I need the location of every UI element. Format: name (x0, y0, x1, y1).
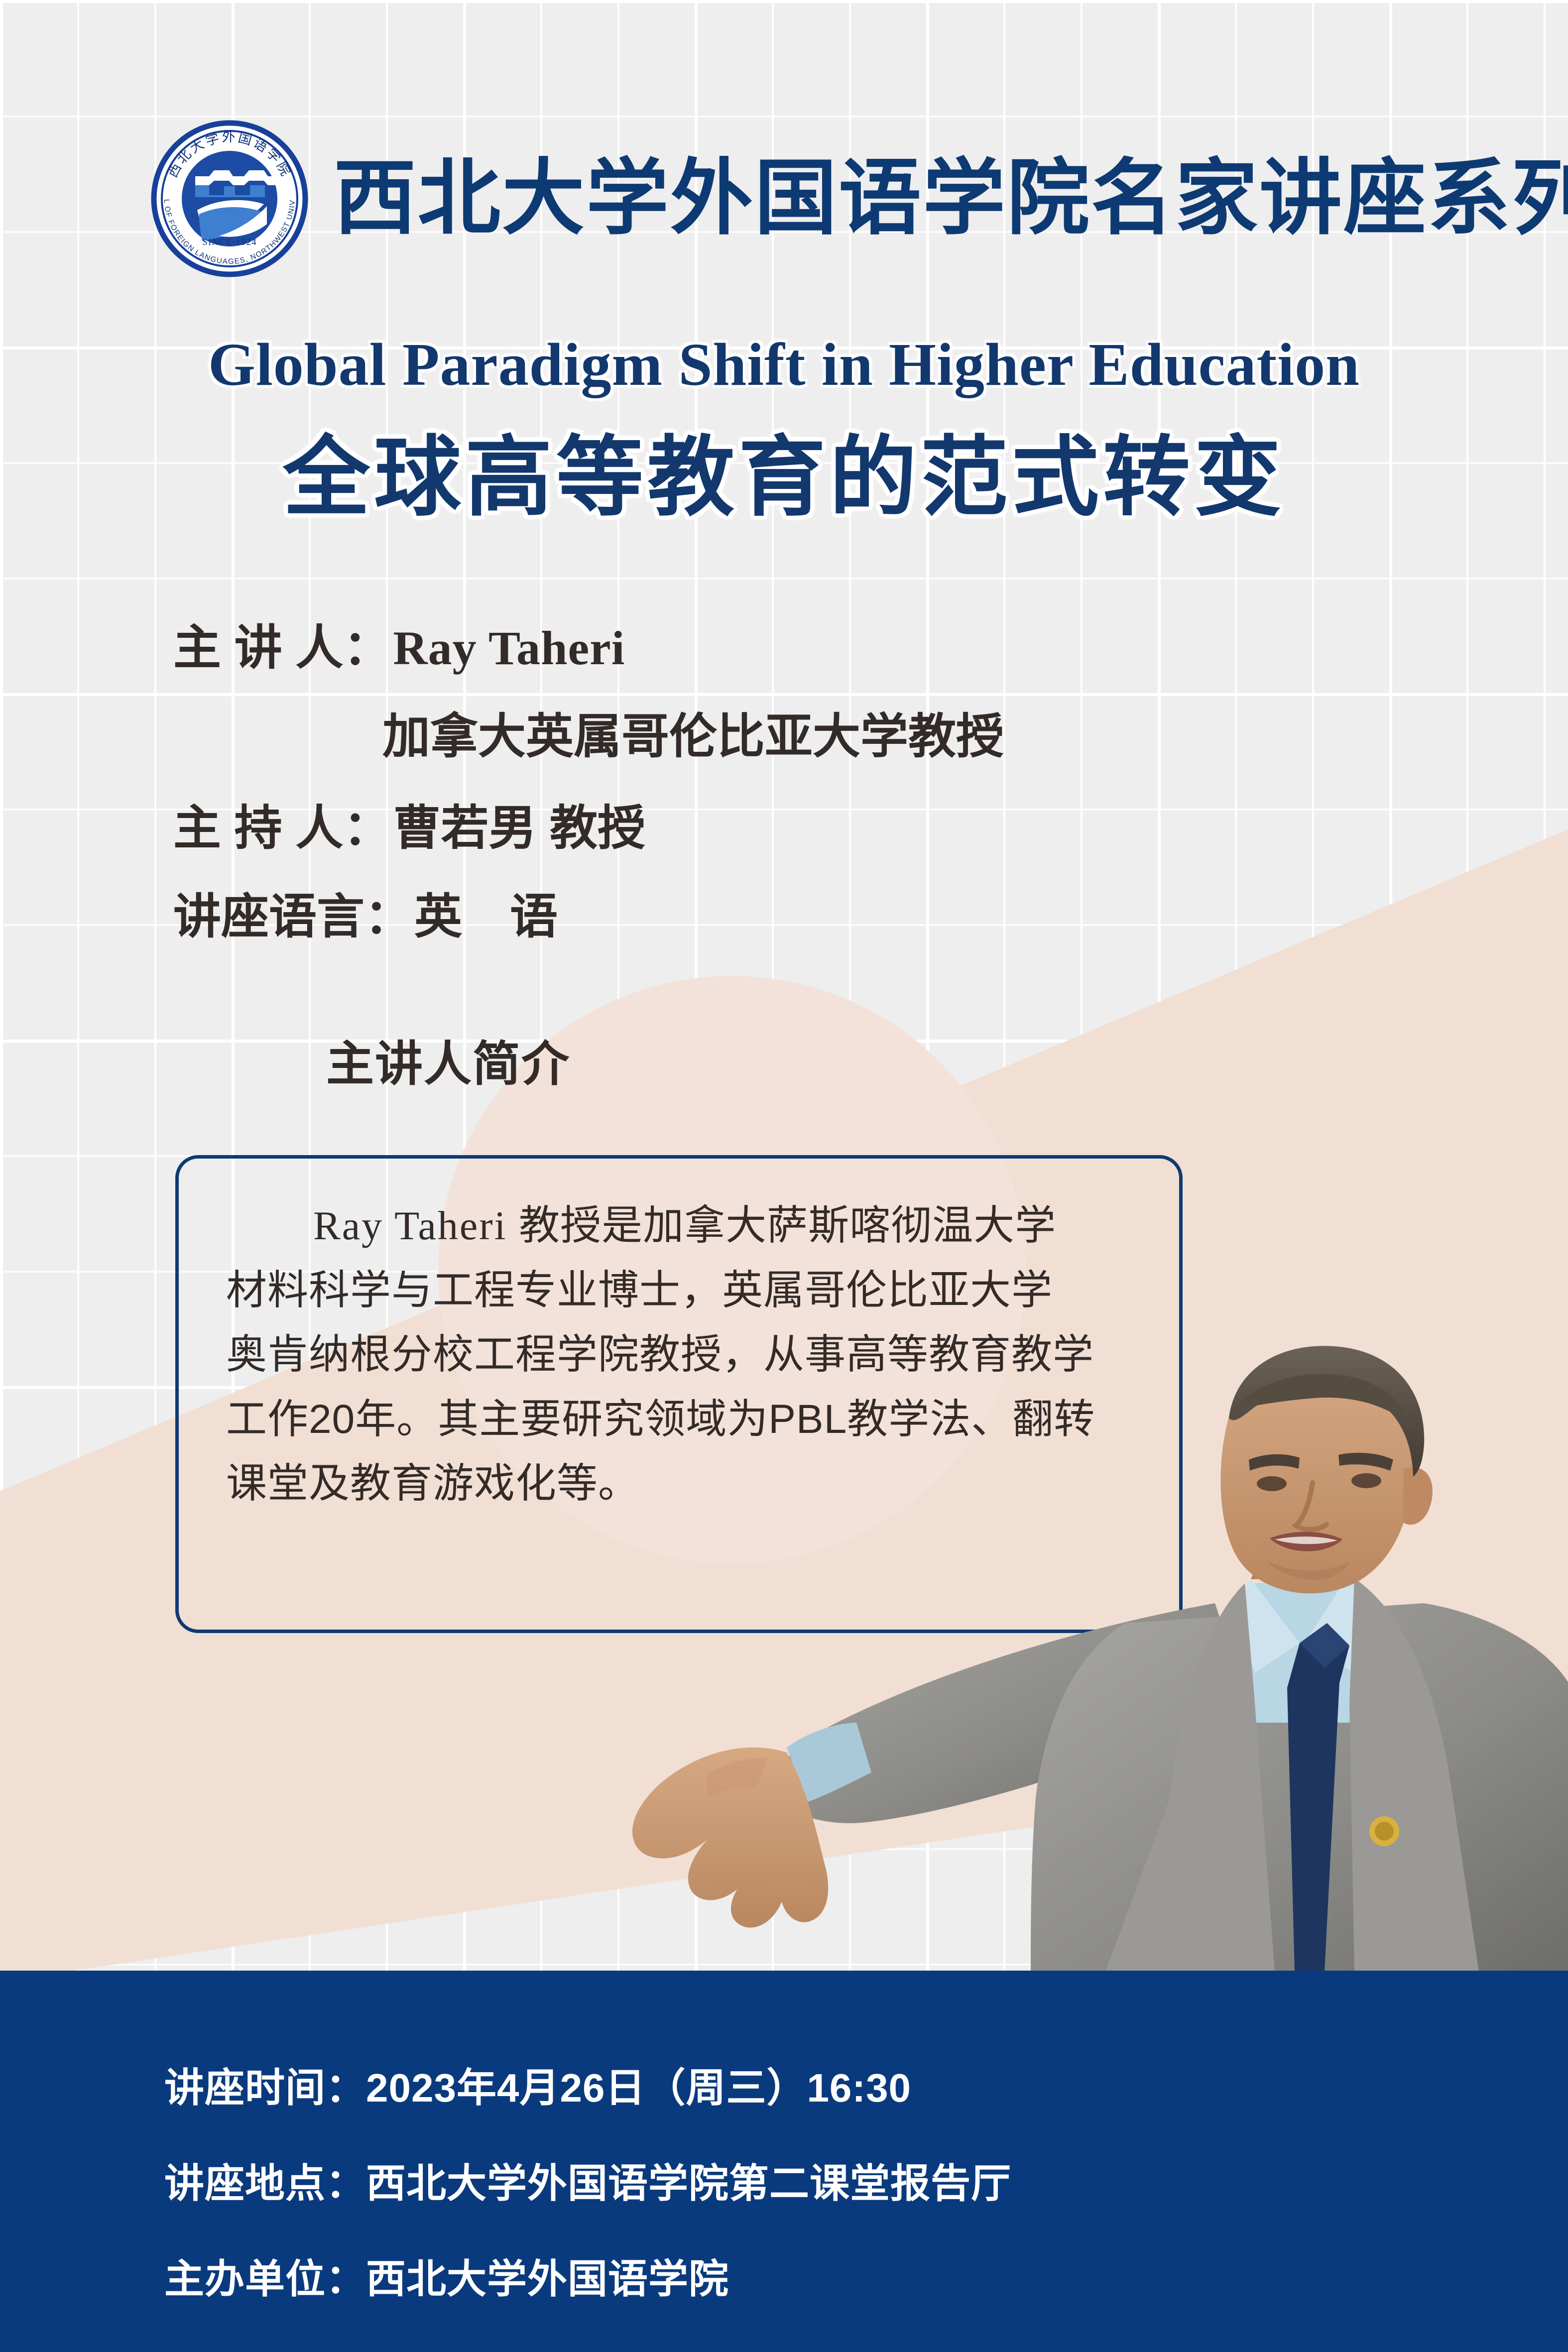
svg-text:SINCE·1924: SINCE·1924 (202, 237, 256, 247)
lecture-poster: SINCE·1924 西北大学外国语学院 SCHOOL OF FOREIGN L… (0, 0, 1568, 2352)
bio-line-1-rest: 教授是加拿大萨斯喀彻温大学 (507, 1203, 1056, 1248)
bio-heading: 主讲人简介 (0, 1041, 896, 1088)
bio-speaker-name: Ray Taheri (313, 1203, 507, 1248)
speaker-name: Ray Taheri (393, 624, 625, 672)
bio-line: 课堂及教育游戏化等。 (226, 1451, 1132, 1516)
host-name: 曹若男 教授 (393, 805, 645, 852)
lecture-organizer: 主办单位：西北大学外国语学院 (164, 2259, 1568, 2299)
bio-line: Ray Taheri 教授是加拿大萨斯喀彻温大学 (226, 1193, 1132, 1258)
lecture-place: 讲座地点：西北大学外国语学院第二课堂报告厅 (164, 2164, 1568, 2204)
bio-line: 材料科学与工程专业博士，英属哥伦比亚大学 (226, 1258, 1132, 1323)
bio-box: Ray Taheri 教授是加拿大萨斯喀彻温大学 材料科学与工程专业博士，英属哥… (175, 1155, 1183, 1633)
series-title: 西北大学外国语学院名家讲座系列之十五 (334, 157, 1568, 240)
speaker-label: 主 讲 人： (173, 624, 391, 672)
language-row: 讲座语言： 英 语 (173, 893, 1368, 941)
host-row: 主 持 人： 曹若男 教授 (173, 805, 1368, 852)
poster-footer: 讲座时间：2023年4月26日（周三）16:30 讲座地点：西北大学外国语学院第… (0, 1971, 1568, 2352)
host-label: 主 持 人： (173, 805, 391, 852)
lecture-title-english: Global Paradigm Shift in Higher Educatio… (0, 335, 1568, 395)
language-label: 讲座语言： (173, 893, 412, 941)
school-seal-logo: SINCE·1924 西北大学外国语学院 SCHOOL OF FOREIGN L… (149, 118, 310, 279)
lecture-info-block: 主 讲 人： Ray Taheri 加拿大英属哥伦比亚大学教授 主 持 人： 曹… (173, 624, 1368, 982)
speaker-affiliation: 加拿大英属哥伦比亚大学教授 (382, 713, 1368, 761)
lecture-time: 讲座时间：2023年4月26日（周三）16:30 (164, 2068, 1568, 2108)
poster-header: SINCE·1924 西北大学外国语学院 SCHOOL OF FOREIGN L… (0, 118, 1568, 279)
language-value: 英 语 (414, 893, 558, 941)
bio-line: 工作20年。其主要研究领域为PBL教学法、翻转 (226, 1387, 1132, 1452)
speaker-row: 主 讲 人： Ray Taheri (173, 624, 1368, 672)
bio-line: 奥肯纳根分校工程学院教授，从事高等教育教学 (226, 1322, 1132, 1387)
lecture-title-chinese: 全球高等教育的范式转变 (0, 429, 1568, 527)
